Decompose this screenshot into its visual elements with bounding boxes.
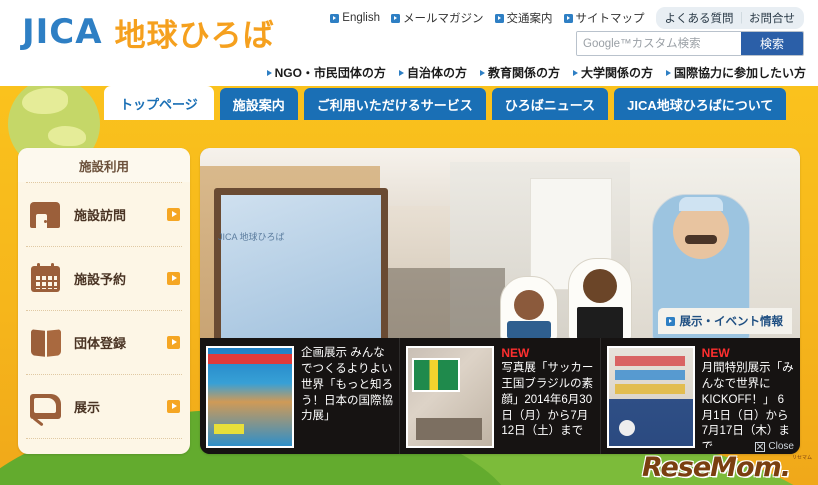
sidebar-item-label: 展示 bbox=[74, 397, 157, 416]
page-root: JICA 地球ひろば English メールマガジン 交通案内 サイトマップ よ… bbox=[0, 0, 818, 485]
tab-hiroba-news[interactable]: ひろばニュース bbox=[492, 88, 608, 120]
utility-link-label: English bbox=[342, 12, 380, 24]
photo-exhibit-thumb bbox=[406, 346, 494, 448]
book-icon bbox=[28, 326, 64, 360]
audience-nav-label: 大学関係の方 bbox=[581, 64, 653, 81]
audience-nav-participation[interactable]: 国際協力に参加したい方 bbox=[666, 64, 806, 81]
logo-sub-text: 地球ひろば bbox=[115, 10, 275, 55]
close-label: Close bbox=[768, 441, 794, 452]
chevron-right-icon bbox=[573, 70, 578, 76]
hero-card-strip: 企画展示 みんなでつくるよりよい世界「もっと知ろう！日本の国際協力展」 NEW … bbox=[200, 338, 800, 454]
close-icon bbox=[755, 442, 765, 452]
hero-card[interactable]: 企画展示 みんなでつくるよりよい世界「もっと知ろう！日本の国際協力展」 bbox=[200, 338, 399, 454]
photo-screen-caption: JICA 地球ひろば bbox=[218, 230, 285, 243]
utility-link-label: メールマガジン bbox=[403, 10, 484, 26]
site-header: JICA 地球ひろば English メールマガジン 交通案内 サイトマップ よ… bbox=[0, 0, 818, 86]
resemom-watermark: ReseMom. リセマム bbox=[642, 452, 812, 483]
photo-cutout-cap bbox=[679, 197, 723, 211]
audience-nav-municipality[interactable]: 自治体の方 bbox=[399, 64, 467, 81]
close-button[interactable]: Close bbox=[755, 441, 794, 452]
hero-card-text: NEW 写真展「サッカー王国ブラジルの素顔」2014年6月30日（月）から7月1… bbox=[501, 346, 593, 448]
chevron-right-icon bbox=[267, 70, 272, 76]
hero-card[interactable]: NEW 月間特別展示「みんなで世界にKICKOFF！」 6月1日（日）から7月1… bbox=[600, 338, 800, 454]
audience-nav: NGO・市民団体の方 自治体の方 教育関係の方 大学関係の方 国際協力に参加した… bbox=[267, 64, 806, 81]
calendar-icon bbox=[28, 262, 64, 296]
blue-play-icon bbox=[495, 14, 504, 23]
divider bbox=[26, 438, 182, 439]
sidebar-item-label: 施設訪問 bbox=[74, 205, 157, 224]
logo-jica-text: JICA bbox=[22, 12, 103, 52]
hero-card-text: 企画展示 みんなでつくるよりよい世界「もっと知ろう！日本の国際協力展」 bbox=[301, 346, 393, 448]
tab-top-page[interactable]: トップページ bbox=[104, 86, 214, 120]
utility-link-label: サイトマップ bbox=[576, 10, 645, 26]
main-tabs: トップページ 施設案内 ご利用いただけるサービス ひろばニュース JICA地球ひ… bbox=[104, 86, 786, 120]
watermark-text: ReseMom. bbox=[642, 452, 790, 483]
sidebar-item-exhibition[interactable]: 展示 bbox=[18, 375, 190, 438]
exhibition-poster-thumb bbox=[206, 346, 294, 448]
utility-link-english[interactable]: English bbox=[326, 12, 384, 24]
chevron-right-icon bbox=[167, 272, 180, 285]
new-badge: NEW bbox=[501, 346, 593, 361]
display-icon bbox=[28, 390, 64, 424]
faq-link[interactable]: よくある質問 bbox=[665, 13, 734, 25]
tab-about[interactable]: JICA地球ひろばについて bbox=[614, 88, 786, 120]
audience-nav-label: 国際協力に参加したい方 bbox=[674, 64, 806, 81]
building-icon bbox=[28, 198, 64, 232]
utility-link-sitemap[interactable]: サイトマップ bbox=[560, 10, 649, 26]
search-input[interactable] bbox=[577, 32, 741, 55]
photo-background-shelf bbox=[385, 268, 505, 338]
blue-play-icon bbox=[666, 317, 675, 326]
chevron-right-icon bbox=[480, 70, 485, 76]
sidebar-title: 施設利用 bbox=[18, 148, 190, 182]
audience-nav-label: 教育関係の方 bbox=[488, 64, 560, 81]
photo-cutout-child bbox=[500, 276, 558, 338]
hero-card-title: 月間特別展示「みんなで世界にKICKOFF！」 6月1日（日）から7月17日（木… bbox=[702, 362, 794, 448]
audience-nav-label: 自治体の方 bbox=[407, 64, 467, 81]
exhibition-event-info-label: 展示・イベント情報 bbox=[680, 313, 784, 329]
sidebar-item-group-registration[interactable]: 団体登録 bbox=[18, 311, 190, 374]
contact-link[interactable]: お問合せ bbox=[749, 13, 795, 25]
hero-photo[interactable]: JICA 地球ひろば 展示・イベント情報 bbox=[200, 148, 800, 338]
faq-contact-pill[interactable]: よくある質問｜お問合せ bbox=[656, 7, 805, 29]
hero-card-title: 写真展「サッカー王国ブラジルの素顔」2014年6月30日（月）から7月12日（土… bbox=[501, 362, 593, 437]
tab-facility-guide[interactable]: 施設案内 bbox=[220, 88, 298, 120]
sidebar-item-label: 団体登録 bbox=[74, 333, 157, 352]
watermark-subtext: リセマム bbox=[792, 454, 812, 461]
utility-link-label: 交通案内 bbox=[507, 10, 553, 26]
tab-services[interactable]: ご利用いただけるサービス bbox=[304, 88, 486, 120]
main-panel: 施設利用 施設訪問 施設予約 団体登録 展示 bbox=[18, 148, 800, 458]
sidebar-item-facility-reservation[interactable]: 施設予約 bbox=[18, 247, 190, 310]
search-button[interactable]: 検索 bbox=[741, 32, 803, 55]
hero-area: JICA 地球ひろば 展示・イベント情報 企画展示 みんなでつくるよりよい世界「… bbox=[200, 148, 800, 454]
hero-card[interactable]: NEW 写真展「サッカー王国ブラジルの素顔」2014年6月30日（月）から7月1… bbox=[399, 338, 599, 454]
site-logo[interactable]: JICA 地球ひろば bbox=[22, 8, 275, 56]
facility-sidebar: 施設利用 施設訪問 施設予約 団体登録 展示 bbox=[18, 148, 190, 454]
audience-nav-university[interactable]: 大学関係の方 bbox=[573, 64, 653, 81]
exhibition-event-info-button[interactable]: 展示・イベント情報 bbox=[658, 308, 793, 334]
chevron-right-icon bbox=[167, 336, 180, 349]
hero-card-text: NEW 月間特別展示「みんなで世界にKICKOFF！」 6月1日（日）から7月1… bbox=[702, 346, 794, 448]
chevron-right-icon bbox=[167, 208, 180, 221]
utility-link-access[interactable]: 交通案内 bbox=[491, 10, 557, 26]
blue-play-icon bbox=[330, 14, 339, 23]
search-box[interactable]: 検索 bbox=[576, 31, 804, 56]
chevron-right-icon bbox=[167, 400, 180, 413]
blue-play-icon bbox=[391, 14, 400, 23]
header-utility-links: English メールマガジン 交通案内 サイトマップ よくある質問｜お問合せ bbox=[326, 7, 804, 29]
chevron-right-icon bbox=[399, 70, 404, 76]
audience-nav-ngo[interactable]: NGO・市民団体の方 bbox=[267, 64, 386, 81]
special-exhibit-thumb bbox=[607, 346, 695, 448]
photo-display-screen bbox=[214, 188, 388, 338]
hero-card-title: 企画展示 みんなでつくるよりよい世界「もっと知ろう！日本の国際協力展」 bbox=[301, 347, 393, 422]
sidebar-item-facility-visit[interactable]: 施設訪問 bbox=[18, 183, 190, 246]
new-badge: NEW bbox=[702, 346, 794, 361]
utility-link-mailmagazine[interactable]: メールマガジン bbox=[387, 10, 488, 26]
sidebar-item-label: 施設予約 bbox=[74, 269, 157, 288]
pill-separator: ｜ bbox=[736, 13, 748, 25]
audience-nav-education[interactable]: 教育関係の方 bbox=[480, 64, 560, 81]
blue-play-icon bbox=[564, 14, 573, 23]
audience-nav-label: NGO・市民団体の方 bbox=[275, 64, 386, 81]
photo-cutout-boy bbox=[568, 258, 632, 338]
chevron-right-icon bbox=[666, 70, 671, 76]
